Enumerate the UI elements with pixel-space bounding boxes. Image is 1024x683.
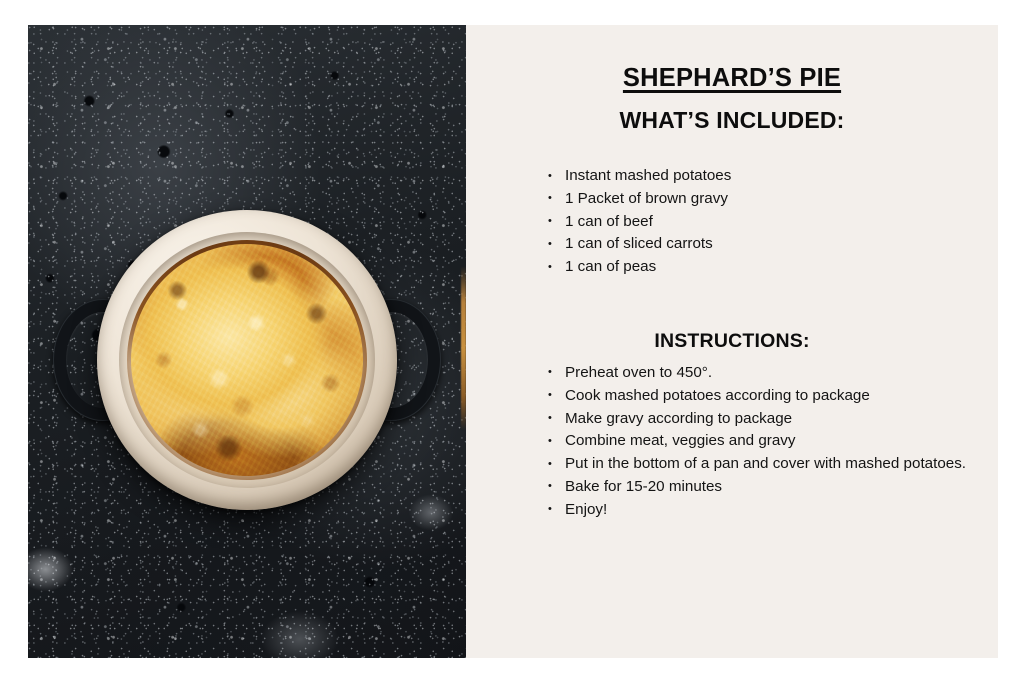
shepherds-pie-photo (28, 25, 466, 658)
browned-cheese-spots (131, 244, 363, 476)
list-item: 1 can of beef (548, 211, 998, 234)
list-item: Instant mashed potatoes (548, 165, 998, 188)
instructions-heading: INSTRUCTIONS: (466, 279, 998, 353)
list-item: Bake for 15-20 minutes (548, 476, 998, 499)
whats-included-heading: WHAT’S INCLUDED: (466, 93, 998, 134)
ingredients-list: Instant mashed potatoes 1 Packet of brow… (466, 134, 998, 279)
instructions-list: Preheat oven to 450°. Cook mashed potato… (466, 353, 998, 522)
list-item: 1 can of peas (548, 256, 998, 279)
list-item: Cook mashed potatoes according to packag… (548, 385, 998, 408)
recipe-content: SHEPHARD’S PIE WHAT’S INCLUDED: Instant … (466, 25, 998, 658)
list-item: Make gravy according to package (548, 408, 998, 431)
list-item: 1 can of sliced carrots (548, 233, 998, 256)
casserole-dish (97, 210, 397, 510)
list-item: Preheat oven to 450°. (548, 362, 998, 385)
recipe-card: SHEPHARD’S PIE WHAT’S INCLUDED: Instant … (0, 0, 1024, 683)
list-item: Combine meat, veggies and gravy (548, 430, 998, 453)
list-item: Enjoy! (548, 499, 998, 522)
list-item: Put in the bottom of a pan and cover wit… (548, 453, 998, 476)
dish-outer-rim (97, 210, 397, 510)
page-title: SHEPHARD’S PIE (466, 25, 998, 93)
list-item: 1 Packet of brown gravy (548, 188, 998, 211)
